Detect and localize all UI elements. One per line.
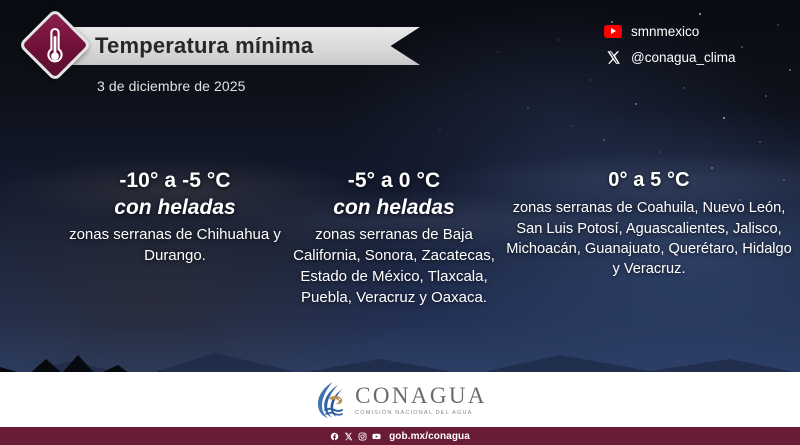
logo-tagline: COMISIÓN NACIONAL DEL AGUA bbox=[355, 410, 487, 416]
forecast-date: 3 de diciembre de 2025 bbox=[97, 78, 246, 94]
infographic-canvas: Temperatura mínima 3 de diciembre de 202… bbox=[0, 0, 800, 445]
youtube-handle-label: smnmexico bbox=[631, 24, 699, 39]
temperature-range: 0° a 5 °C bbox=[505, 168, 793, 192]
footer-social-bar: gob.mx/conagua bbox=[0, 427, 800, 445]
zones-text: zonas serranas de Chihuahua y Durango. bbox=[60, 225, 290, 266]
forecast-column-3: 0° a 5 °C zonas serranas de Coahuila, Nu… bbox=[505, 168, 793, 279]
footer-url-label[interactable]: gob.mx/conagua bbox=[389, 431, 470, 442]
x-handle-label: @conagua_clima bbox=[631, 50, 736, 65]
temperature-range: -10° a -5 °C bbox=[60, 168, 290, 194]
frost-label: con heladas bbox=[60, 195, 290, 222]
thermometer-badge bbox=[22, 12, 88, 78]
social-handle-x[interactable]: @conagua_clima bbox=[604, 46, 784, 68]
zones-text: zonas serranas de Coahuila, Nuevo León, … bbox=[505, 198, 793, 279]
instagram-icon[interactable] bbox=[358, 432, 367, 441]
x-twitter-icon bbox=[604, 49, 622, 65]
forecast-column-2: -5° a 0 °C con heladas zonas serranas de… bbox=[288, 168, 500, 308]
social-handles: smnmexico @conagua_clima bbox=[604, 20, 784, 72]
youtube-icon bbox=[604, 25, 622, 38]
temperature-range: -5° a 0 °C bbox=[288, 168, 500, 194]
conagua-logo: CONAGUA COMISIÓN NACIONAL DEL AGUA bbox=[313, 380, 487, 420]
conagua-emblem-icon bbox=[313, 380, 347, 420]
youtube-icon[interactable] bbox=[372, 432, 381, 441]
social-handle-youtube[interactable]: smnmexico bbox=[604, 20, 784, 42]
forecast-column-1: -10° a -5 °C con heladas zonas serranas … bbox=[60, 168, 290, 267]
logo-wordmark: CONAGUA bbox=[355, 384, 487, 407]
x-twitter-icon[interactable] bbox=[344, 432, 353, 441]
footer-logo-band: CONAGUA COMISIÓN NACIONAL DEL AGUA bbox=[0, 372, 800, 427]
forecast-columns: -10° a -5 °C con heladas zonas serranas … bbox=[0, 160, 800, 360]
zones-text: zonas serranas de Baja California, Sonor… bbox=[288, 225, 500, 308]
facebook-icon[interactable] bbox=[330, 432, 339, 441]
page-title: Temperatura mínima bbox=[95, 28, 395, 64]
thermometer-icon bbox=[43, 26, 67, 66]
frost-label: con heladas bbox=[288, 195, 500, 222]
